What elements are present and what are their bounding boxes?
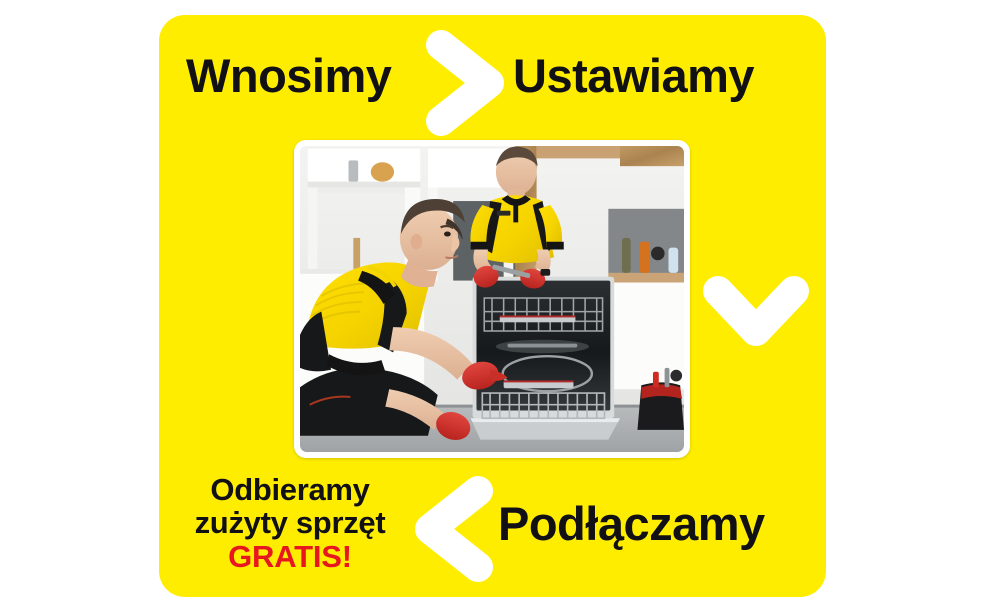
pickup-free-badge: GRATIS! — [178, 540, 402, 573]
chevron-right-icon — [419, 27, 517, 139]
pickup-offer-block: Odbieramy zużyty sprzęt GRATIS! — [178, 473, 402, 573]
step-label-wnosimy: Wnosimy — [186, 52, 391, 99]
promo-banner: Wnosimy Ustawiamy — [0, 0, 1000, 612]
chevron-left-icon — [406, 473, 504, 585]
pickup-line-2: zużyty sprzęt — [178, 506, 402, 539]
pickup-line-1: Odbieramy — [178, 473, 402, 506]
installation-photo — [300, 146, 684, 452]
chevron-down-icon — [700, 269, 812, 361]
photo-frame — [294, 140, 690, 458]
step-label-ustawiamy: Ustawiamy — [513, 52, 754, 99]
step-label-podlaczamy: Podłączamy — [498, 500, 765, 547]
